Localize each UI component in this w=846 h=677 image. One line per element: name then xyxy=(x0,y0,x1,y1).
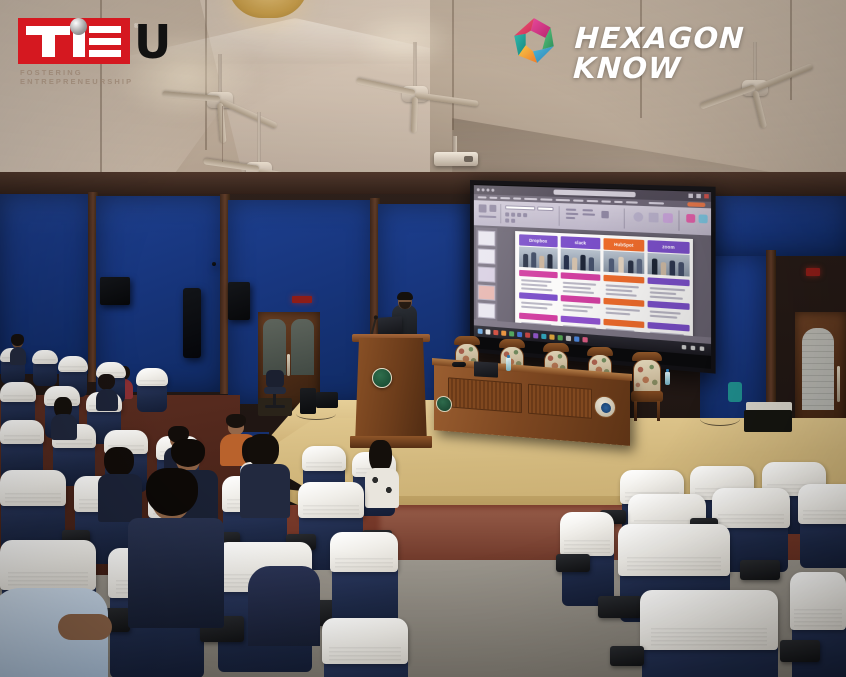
ceiling-fan xyxy=(350,42,480,106)
floor-object xyxy=(728,382,742,402)
column-label: slack xyxy=(575,240,586,246)
tie-u-letter: U xyxy=(134,21,170,63)
side-table-base xyxy=(744,410,792,432)
table-front-panel xyxy=(528,384,592,419)
hexagon-know-logo: HEXAGON KNOW xyxy=(508,13,838,69)
slide-row-bar xyxy=(519,270,557,278)
search-input[interactable] xyxy=(554,189,636,197)
hexagon-wordmark: HEXAGON KNOW xyxy=(572,23,839,83)
table-laptop[interactable] xyxy=(474,361,498,377)
ceiling-fan xyxy=(160,54,280,114)
window-buttons[interactable] xyxy=(688,194,708,199)
slide-row-bar xyxy=(604,275,645,284)
floor-cable xyxy=(700,412,740,426)
slide-photo xyxy=(561,249,601,272)
slide-column-header: zoom xyxy=(648,240,690,254)
ribbon-group-drawing[interactable] xyxy=(629,209,679,231)
table-front-panel xyxy=(448,377,522,413)
slide-row-bar xyxy=(561,316,601,325)
slide-row-bar xyxy=(604,298,645,307)
projector-lens xyxy=(464,156,473,162)
door-handle[interactable] xyxy=(837,366,840,402)
slide-thumbnail[interactable] xyxy=(478,248,496,264)
table-crest xyxy=(436,395,452,412)
wall-fitting xyxy=(212,262,216,266)
screen-content: Dropbox slack HubSpot zoom xyxy=(474,185,711,356)
table-device xyxy=(452,362,466,367)
tie-logo: ® U FOSTERING ENTREPRENEURSHIP xyxy=(18,18,148,80)
door-glass-panel xyxy=(802,328,834,410)
floor-cable xyxy=(296,408,336,420)
slide-thumbnail[interactable] xyxy=(478,266,496,282)
door-glass-panel xyxy=(263,319,286,375)
ribbon-group-font[interactable] xyxy=(503,204,559,226)
seat-armrest xyxy=(556,554,590,572)
water-bottle[interactable] xyxy=(665,372,670,385)
seat-armrest xyxy=(610,646,644,666)
seat-armrest xyxy=(780,640,820,662)
wall-speaker xyxy=(228,282,250,320)
podium xyxy=(355,338,427,444)
slide-thumbnail[interactable] xyxy=(478,284,496,300)
slide-thumbnail[interactable] xyxy=(478,230,496,246)
speaker-hair xyxy=(397,292,413,300)
exit-sign xyxy=(806,268,820,276)
table-medallion xyxy=(594,395,616,419)
office-chair[interactable] xyxy=(262,370,288,414)
slide-photo xyxy=(604,251,645,274)
tie-letter-t xyxy=(26,26,70,57)
wall-top-trim xyxy=(0,172,846,194)
slide-row-bar xyxy=(519,292,557,301)
seat-armrest xyxy=(598,596,642,618)
ceiling-projector xyxy=(434,152,478,166)
slide-row-bar xyxy=(648,277,690,286)
column-label: zoom xyxy=(662,244,675,250)
column-label: HubSpot xyxy=(614,242,633,248)
stage-chair[interactable] xyxy=(630,352,664,422)
exit-sign xyxy=(292,296,312,303)
titlebar-quick-access-icons xyxy=(477,188,495,192)
seat-armrest xyxy=(740,560,780,580)
slide-row-bar xyxy=(519,313,557,322)
hexagon-pinwheel-icon xyxy=(508,15,560,67)
slide-column-header: Dropbox xyxy=(519,234,557,247)
tie-tagline: FOSTERING ENTREPRENEURSHIP xyxy=(20,68,148,86)
slide-row-bar xyxy=(561,295,601,304)
podium-emblem xyxy=(372,368,392,388)
column-label: Dropbox xyxy=(529,238,547,244)
slide-row-bar xyxy=(561,272,601,281)
tie-globe-icon xyxy=(70,18,87,35)
floor-equipment xyxy=(316,392,338,408)
acoustic-panel xyxy=(700,196,846,256)
tie-logo-box xyxy=(18,18,130,64)
ceiling-fan xyxy=(196,112,322,172)
slide-thumbnail[interactable] xyxy=(478,303,496,319)
slide-photo xyxy=(648,253,690,277)
slide-column-header: slack xyxy=(561,236,601,249)
ribbon-group-editing[interactable] xyxy=(684,211,711,233)
slide-row-bar xyxy=(648,301,690,310)
ribbon-group-clipboard[interactable] xyxy=(476,203,501,223)
slide-photo xyxy=(519,246,557,269)
door-glass-panel xyxy=(291,319,314,375)
podium-laptop[interactable] xyxy=(378,316,402,335)
tie-letter-e xyxy=(89,26,121,57)
wall-speaker-column xyxy=(183,288,201,358)
podium-base xyxy=(350,436,432,448)
wall-speaker xyxy=(100,277,130,305)
slide-row-bar xyxy=(604,319,645,328)
water-bottle[interactable] xyxy=(506,358,511,371)
slide-row-bar xyxy=(648,322,690,332)
auditorium-photo: Dropbox slack HubSpot zoom xyxy=(0,0,846,677)
ribbon-group-paragraph[interactable] xyxy=(564,206,625,228)
slide-column-header: HubSpot xyxy=(604,238,645,252)
